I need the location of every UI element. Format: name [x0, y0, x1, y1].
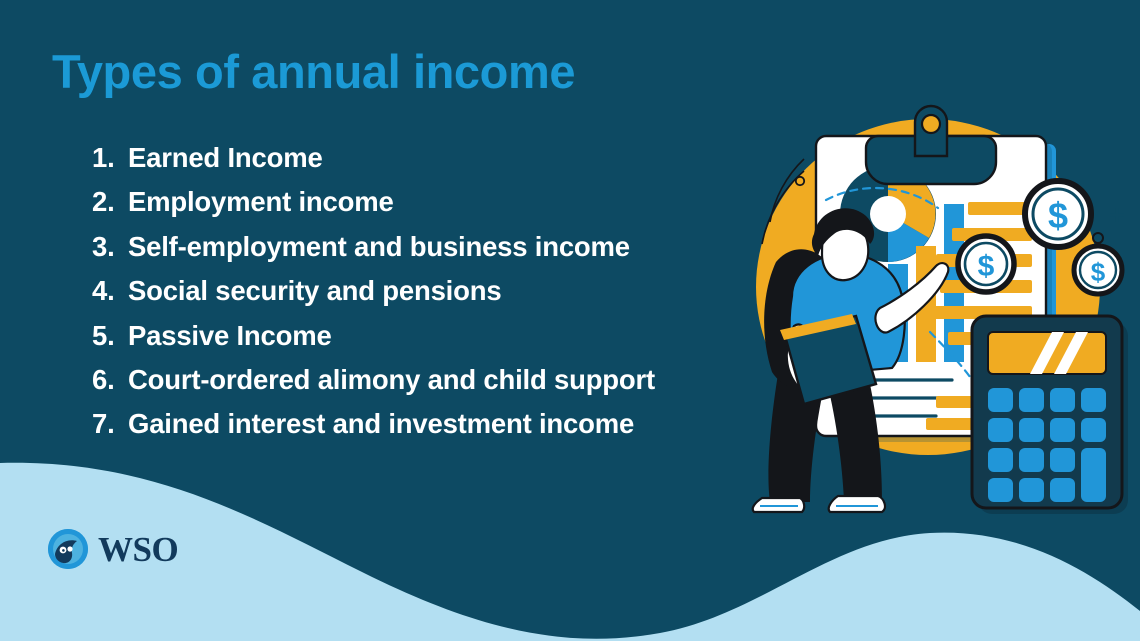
list-item-number: 3.	[92, 231, 128, 263]
decorative-circle-outline-right	[1093, 233, 1103, 243]
list-item: 2. Employment income	[92, 186, 752, 230]
list-item-number: 7.	[92, 408, 128, 440]
slide-canvas: $ $ $	[0, 0, 1140, 641]
list-item-label: Social security and pensions	[128, 275, 501, 307]
sparkle-plus-icon-right	[1110, 208, 1124, 222]
list-item-label: Gained interest and investment income	[128, 408, 634, 440]
clipboard-clip	[866, 106, 996, 184]
list-item-number: 5.	[92, 320, 128, 352]
dollar-coin-large: $	[1025, 181, 1091, 247]
list-item-number: 1.	[92, 142, 128, 174]
income-types-list: 1. Earned Income 2. Employment income 3.…	[52, 142, 752, 453]
dollar-coin-medium: $	[958, 236, 1014, 292]
wso-wordmark: WSO	[98, 532, 178, 567]
list-item: 5. Passive Income	[92, 320, 752, 364]
list-item: 7. Gained interest and investment income	[92, 408, 752, 452]
calculator-display	[988, 332, 1106, 374]
wso-circle-logo-icon	[47, 528, 89, 570]
list-item-label: Court-ordered alimony and child support	[128, 364, 655, 396]
list-item-number: 4.	[92, 275, 128, 307]
list-item-label: Passive Income	[128, 320, 332, 352]
list-item-number: 6.	[92, 364, 128, 396]
list-item-label: Employment income	[128, 186, 394, 218]
list-item: 4. Social security and pensions	[92, 275, 752, 319]
list-item-label: Self-employment and business income	[128, 231, 630, 263]
coin-dollar-symbol: $	[1048, 195, 1068, 236]
list-item: 3. Self-employment and business income	[92, 231, 752, 275]
calculator	[972, 316, 1128, 514]
list-item: 1. Earned Income	[92, 142, 752, 186]
list-item-number: 2.	[92, 186, 128, 218]
dollar-coin-small: $	[1074, 246, 1122, 294]
list-item-label: Earned Income	[128, 142, 323, 174]
page-title: Types of annual income	[52, 43, 575, 101]
financial-report-illustration: $ $ $	[740, 104, 1140, 514]
coin-dollar-symbol: $	[978, 250, 995, 283]
list-item: 6. Court-ordered alimony and child suppo…	[92, 364, 752, 408]
wso-logo[interactable]: WSO	[47, 528, 178, 570]
coin-dollar-symbol: $	[1091, 257, 1106, 287]
